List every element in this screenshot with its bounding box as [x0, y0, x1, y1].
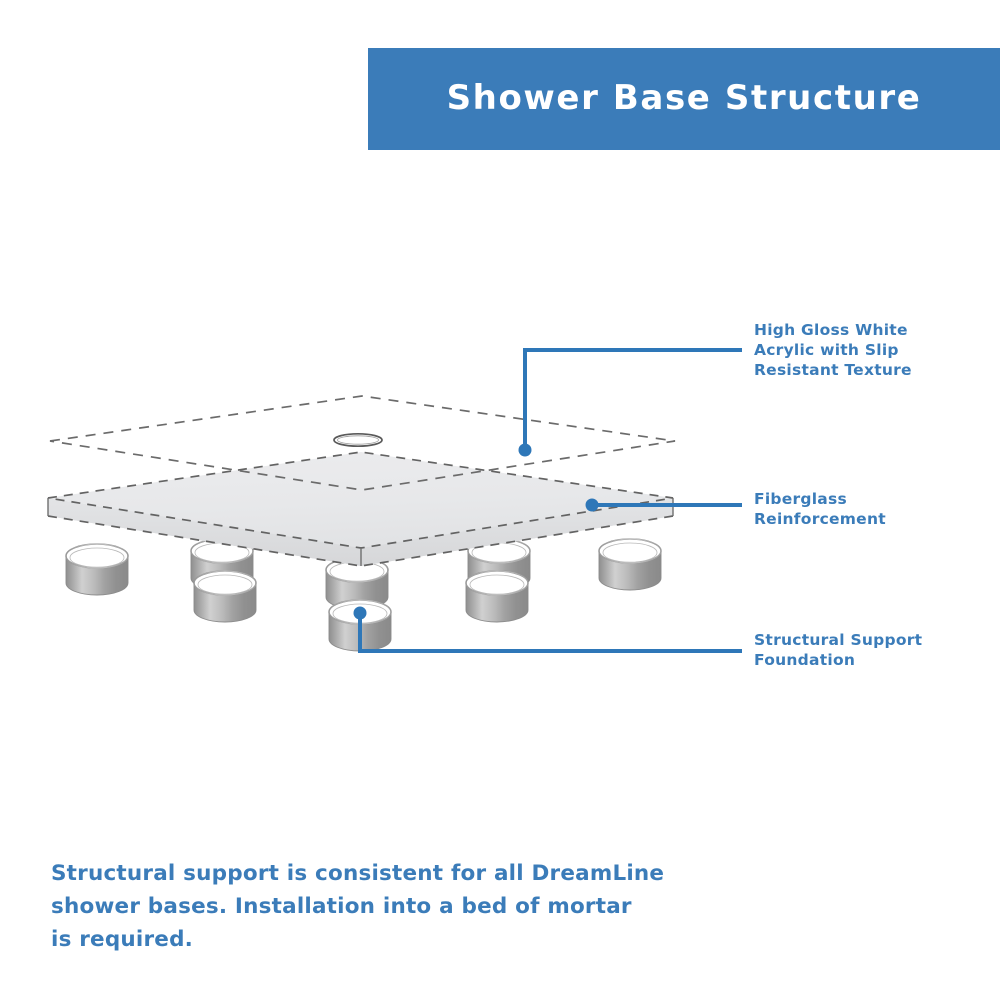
leader-dot-fiberglass	[586, 499, 599, 512]
support-ring	[326, 558, 388, 609]
acrylic-top-plate	[50, 396, 675, 490]
page-title: Shower Base Structure	[447, 81, 922, 117]
support-ring-group	[66, 539, 661, 651]
fiberglass-reinforcement-plate	[48, 452, 673, 566]
support-ring	[329, 600, 391, 651]
leader-line-structural	[354, 607, 743, 652]
leader-line-acrylic	[519, 350, 743, 457]
callout-label-structural: Structural Support Foundation	[754, 630, 990, 670]
support-ring	[468, 539, 530, 590]
support-ring	[599, 539, 661, 590]
callout-label-fiberglass: Fiberglass Reinforcement	[754, 489, 990, 529]
support-ring	[194, 571, 256, 622]
diagram-canvas: Shower Base Structure	[0, 0, 1000, 1000]
drain-opening	[334, 434, 382, 446]
support-ring	[191, 539, 253, 590]
support-ring	[466, 571, 528, 622]
support-ring	[66, 544, 128, 595]
leader-dot-structural	[354, 607, 367, 620]
leader-line-fiberglass	[586, 499, 743, 512]
title-banner: Shower Base Structure	[368, 48, 1000, 150]
leader-dot-acrylic	[519, 444, 532, 457]
callout-label-acrylic: High Gloss White Acrylic with Slip Resis…	[754, 320, 990, 380]
footer-caption: Structural support is consistent for all…	[51, 857, 691, 956]
